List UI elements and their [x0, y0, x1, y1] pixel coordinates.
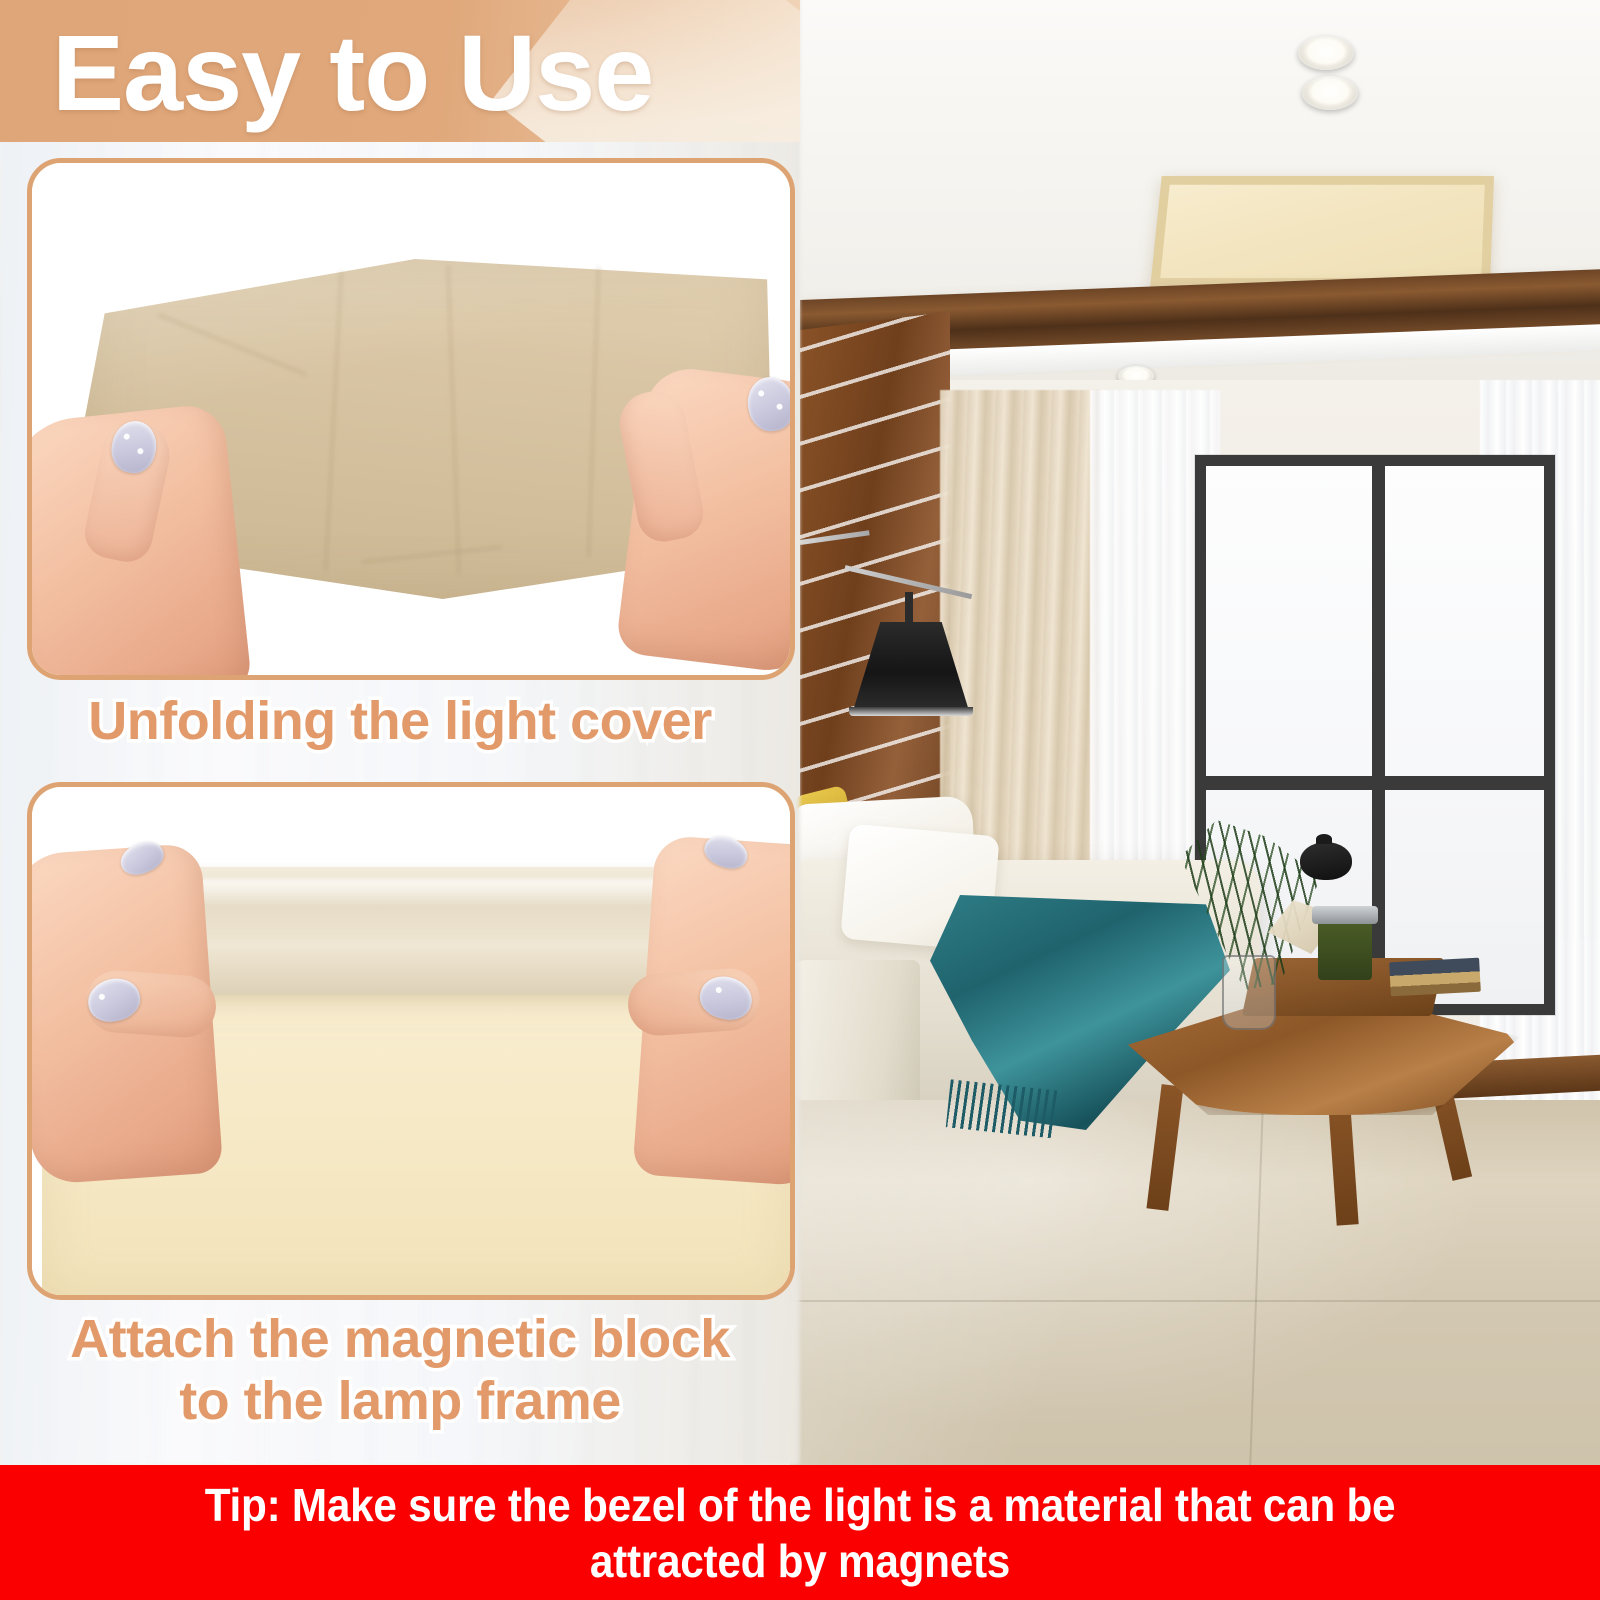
books [1389, 958, 1481, 997]
step-2-caption-line-1: Attach the magnetic block [0, 1308, 800, 1370]
green-jar [1318, 920, 1372, 980]
page-title: Easy to Use [52, 8, 653, 138]
step-2-caption: Attach the magnetic block to the lamp fr… [0, 1308, 800, 1432]
nail-art-dot [715, 986, 722, 993]
step-1-caption: Unfolding the light cover [0, 690, 800, 752]
floor-tile-seam [790, 1300, 1600, 1302]
nail-art-dot [758, 390, 765, 397]
window-mullion-horizontal [1206, 776, 1544, 790]
header-banner: Easy to Use [0, 0, 800, 142]
tip-text: Tip: Make sure the bezel of the light is… [101, 1477, 1499, 1589]
downlight-icon [1302, 76, 1358, 110]
nail-art-dot [123, 433, 130, 440]
step-2-caption-line-2: to the lamp frame [0, 1370, 800, 1432]
downlight-icon [1298, 36, 1354, 70]
tip-banner: Tip: Make sure the bezel of the light is… [0, 1465, 1600, 1600]
lamp-stem [905, 592, 913, 626]
pendant-lamp-rim [849, 707, 973, 716]
tip-line-2: attracted by magnets [101, 1533, 1499, 1589]
product-infographic: Easy to Use Unfolding the light cover [0, 0, 1600, 1600]
nail-art-dot [98, 993, 105, 1000]
green-jar-lid [1312, 906, 1378, 924]
teapot-lid [1316, 834, 1332, 844]
nail-art-dot [137, 448, 144, 455]
black-teapot [1300, 842, 1352, 880]
step-1-photo-panel [27, 158, 795, 680]
roll-highlight [132, 879, 712, 907]
sofa-armrest [790, 960, 920, 1120]
step-2-photo-panel [27, 782, 795, 1300]
glass-vase [1222, 955, 1276, 1030]
tip-line-1: Tip: Make sure the bezel of the light is… [101, 1477, 1499, 1533]
nail-art-dot [776, 403, 783, 410]
installed-light-cover [1150, 176, 1494, 287]
